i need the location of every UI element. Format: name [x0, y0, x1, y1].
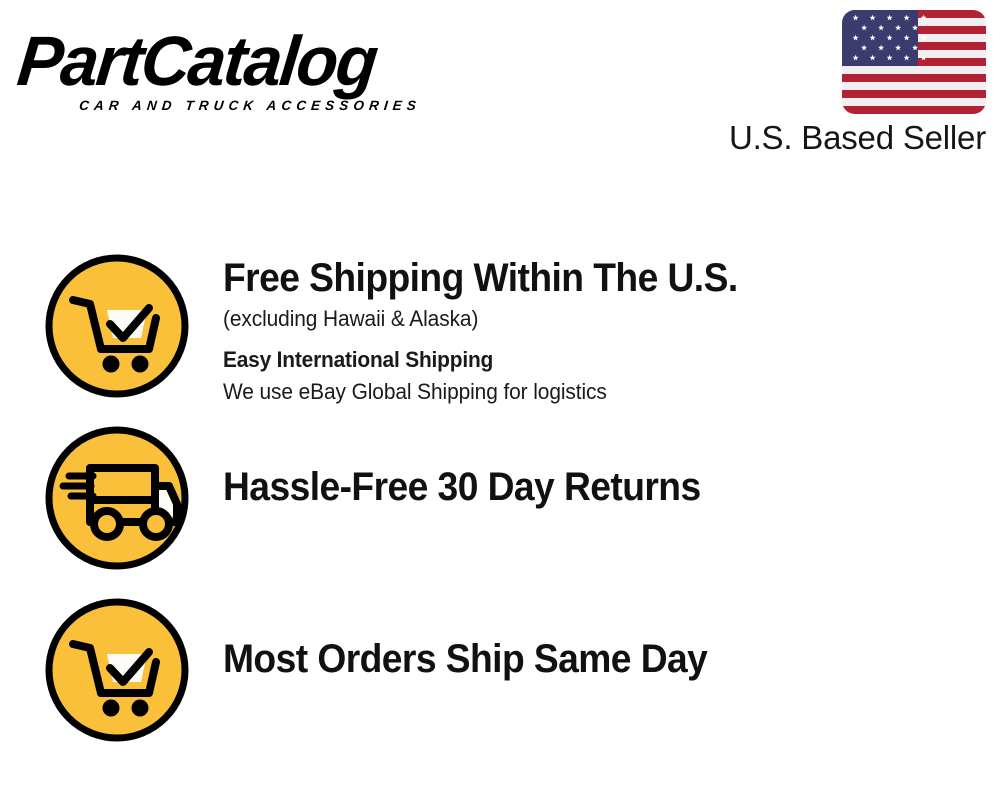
feature-row: Most Orders Ship Same Day [0, 592, 1000, 764]
feature-title: Hassle-Free 30 Day Returns [223, 463, 893, 511]
brand-wordmark: PartCatalog [14, 24, 379, 98]
feature-title: Free Shipping Within The U.S. [223, 254, 893, 302]
banner-header: PartCatalog CAR AND TRUCK ACCESSORIES [0, 0, 1000, 170]
brand-tagline: CAR AND TRUCK ACCESSORIES [78, 98, 421, 113]
feature-subtitle-international: Easy International Shipping [223, 344, 907, 375]
feature-title: Most Orders Ship Same Day [223, 635, 893, 683]
feature-text-block: Most Orders Ship Same Day [223, 635, 943, 683]
feature-text-block: Hassle-Free 30 Day Returns [223, 463, 943, 511]
us-based-seller-label: U.S. Based Seller [724, 118, 986, 158]
feature-subtitle-exclusions: (excluding Hawaii & Alaska) [223, 303, 907, 334]
feature-row: Free Shipping Within The U.S. (excluding… [0, 248, 1000, 420]
part-catalog-logo: PartCatalog CAR AND TRUCK ACCESSORIES [22, 24, 492, 114]
feature-list: Free Shipping Within The U.S. (excluding… [0, 170, 1000, 800]
feature-row: Hassle-Free 30 Day Returns [0, 420, 1000, 592]
us-flag-icon [842, 10, 986, 114]
shopping-cart-check-icon [43, 252, 191, 400]
feature-text-block: Free Shipping Within The U.S. (excluding… [223, 254, 943, 407]
feature-subtitle-logistics: We use eBay Global Shipping for logistic… [223, 376, 907, 407]
delivery-truck-icon [43, 424, 191, 572]
shopping-cart-check-icon [43, 596, 191, 744]
